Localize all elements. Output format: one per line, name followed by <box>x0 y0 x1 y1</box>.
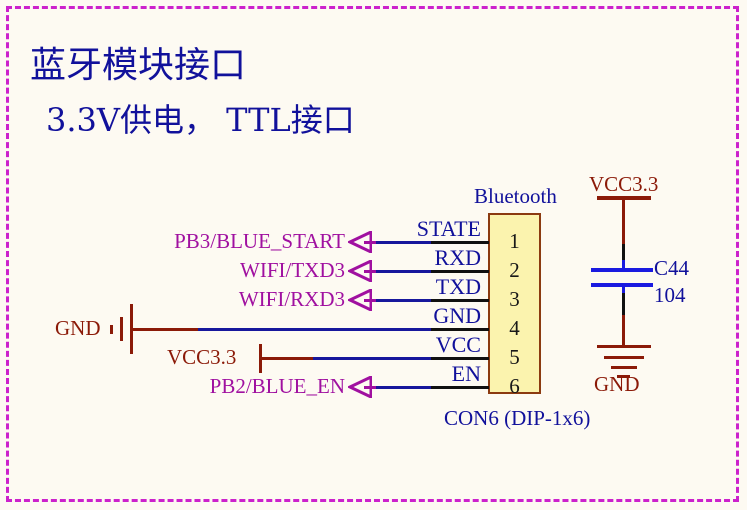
net-label-pb2-blue-en: PB2/BLUE_EN <box>30 374 345 399</box>
net-label-wifi-txd3: WIFI/TXD3 <box>30 258 345 283</box>
capacitor-plate-top <box>591 268 653 272</box>
wire-vcc-to-cap-red <box>622 196 625 244</box>
pin-number-2: 2 <box>488 258 541 283</box>
signal-label-vcc: VCC <box>348 332 481 358</box>
pin-number-1: 1 <box>488 229 541 254</box>
vcc-terminal-bar-left <box>259 344 262 373</box>
connector-caption: CON6 (DIP-1x6) <box>444 408 590 429</box>
capacitor-value: 104 <box>654 283 686 308</box>
page-subtitle: 3.3V供电， TTL接口 <box>46 104 355 136</box>
net-label-pb3-blue-start: PB3/BLUE_START <box>30 229 345 254</box>
ground-bar-bottom-2 <box>604 356 644 359</box>
vcc-label-left: VCC3.3 <box>167 345 236 370</box>
page-title: 蓝牙模块接口 <box>30 48 246 84</box>
ground-label-bottom: GND <box>594 372 640 397</box>
schematic-canvas: 蓝牙模块接口 3.3V供电， TTL接口 Bluetooth 1 2 3 4 5… <box>0 0 747 510</box>
wire-pin5-red <box>259 357 313 360</box>
ground-bar-left-2 <box>120 317 123 341</box>
pin-number-5: 5 <box>488 345 541 370</box>
pin-number-4: 4 <box>488 316 541 341</box>
ground-bar-bottom-1 <box>597 345 651 348</box>
net-stub-pin6 <box>364 386 376 389</box>
net-stub-pin1 <box>364 241 376 244</box>
ground-label-left: GND <box>55 316 101 341</box>
net-label-wifi-rxd3: WIFI/RXD3 <box>30 287 345 312</box>
ground-bar-left-1 <box>110 325 113 334</box>
wire-cap-to-gnd-black <box>622 293 625 315</box>
capacitor-designator: C44 <box>654 256 689 281</box>
wire-cap-to-gnd-red <box>622 315 625 345</box>
ground-bar-left-3 <box>130 304 133 354</box>
pin-number-3: 3 <box>488 287 541 312</box>
wire-pin4-red <box>130 328 198 331</box>
connector-name-label: Bluetooth <box>474 186 557 207</box>
pin-number-6: 6 <box>488 374 541 399</box>
net-stub-pin2 <box>364 270 376 273</box>
vcc-label-top: VCC3.3 <box>589 172 658 197</box>
ground-bar-bottom-3 <box>611 366 637 369</box>
net-stub-pin3 <box>364 299 376 302</box>
